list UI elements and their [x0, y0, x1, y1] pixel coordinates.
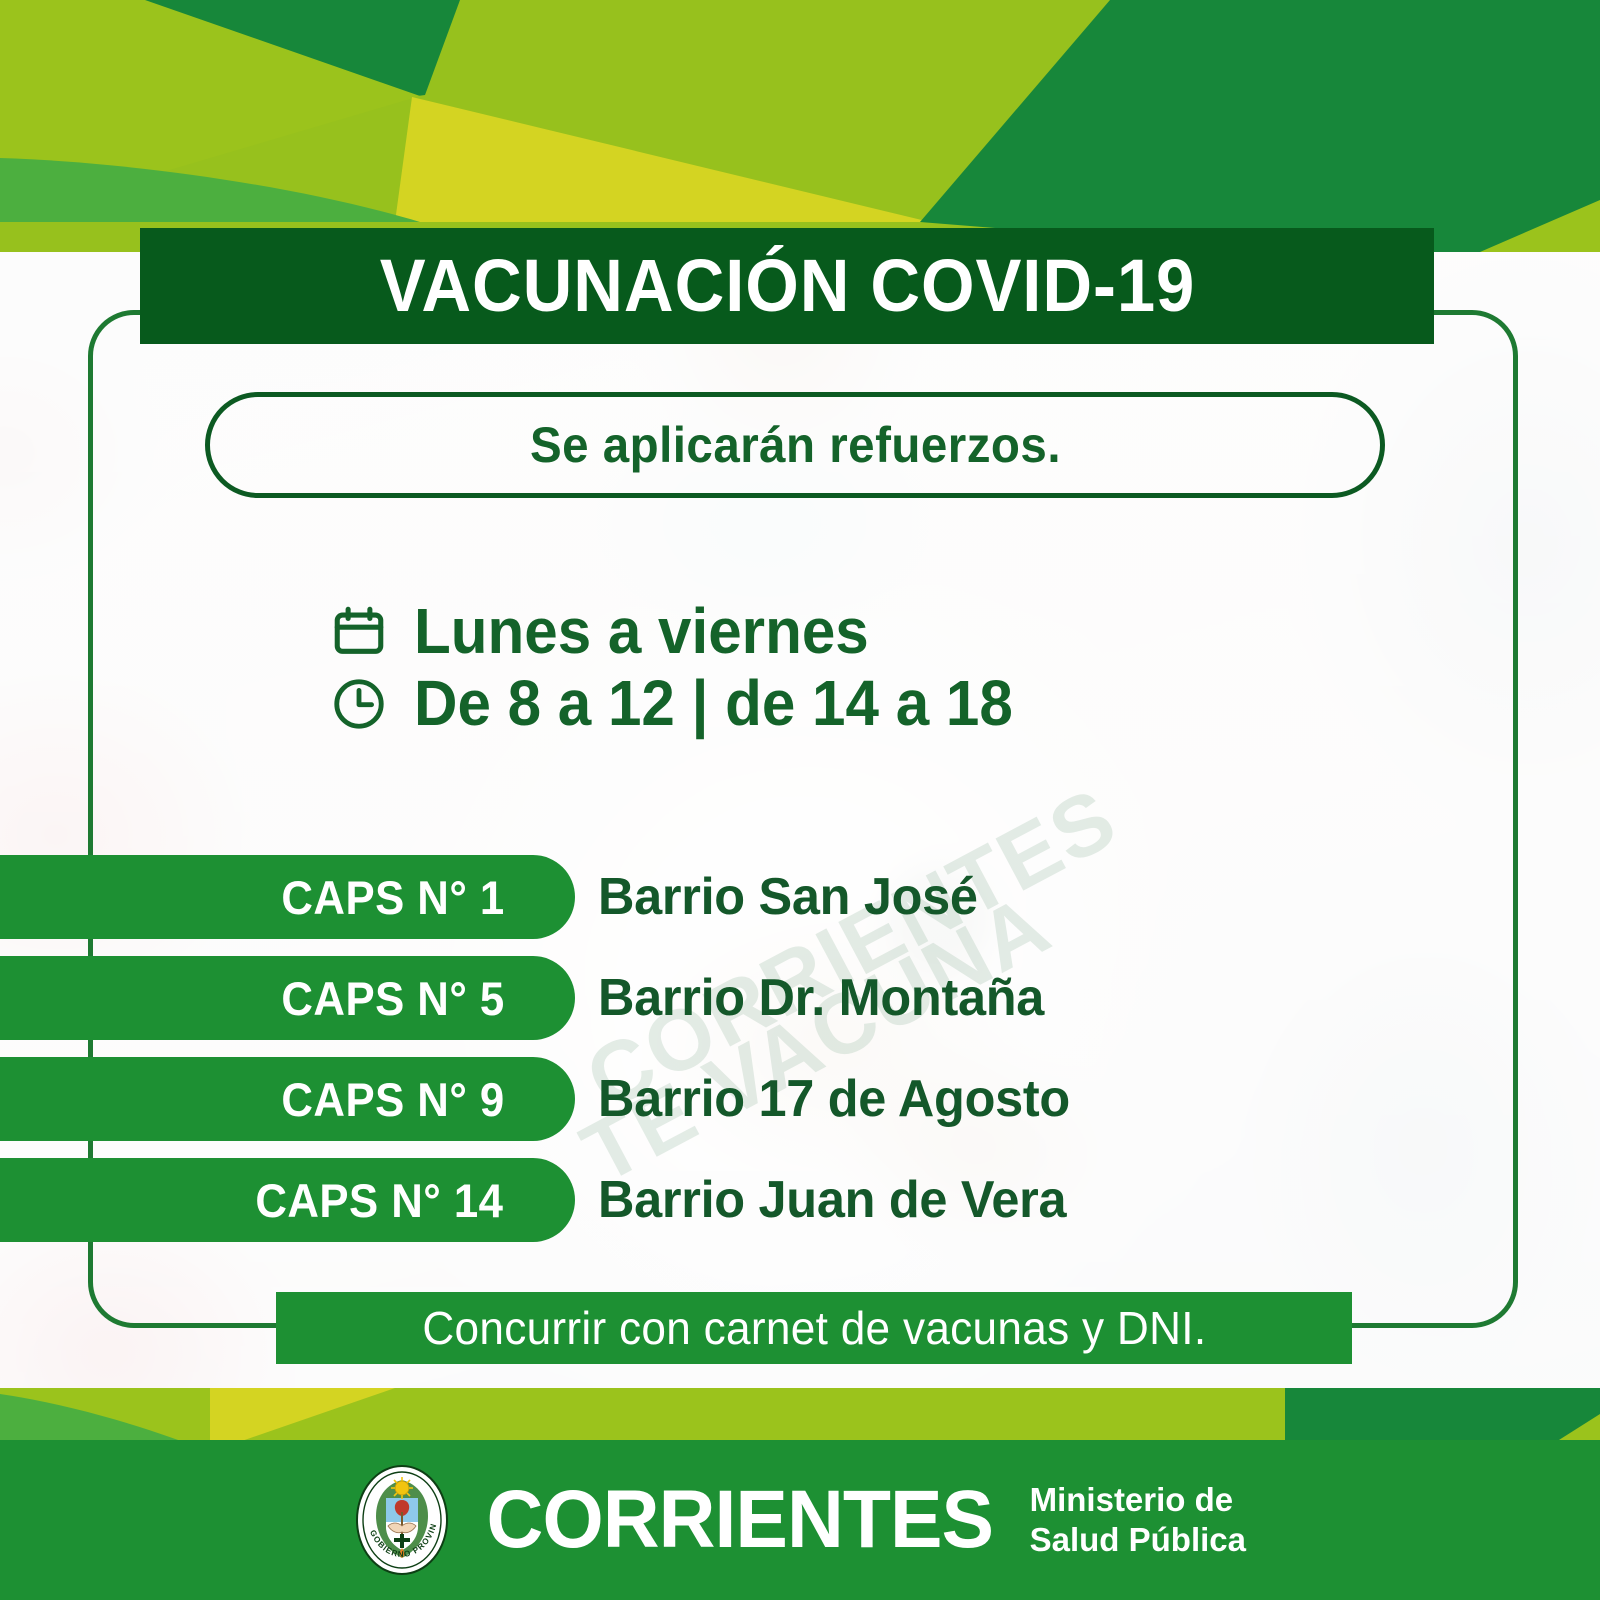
ministry-label: Ministerio de Salud Pública	[1030, 1480, 1246, 1561]
caps-row: CAPS N° 14 Barrio Juan de Vera	[0, 1158, 1600, 1253]
schedule-hours-text: De 8 a 12 | de 14 a 18	[414, 670, 1013, 738]
ministry-line1: Ministerio de	[1030, 1480, 1246, 1520]
note-text: Concurrir con carnet de vacunas y DNI.	[422, 1301, 1206, 1355]
schedule-block: Lunes a viernes De 8 a 12 | de 14 a 18	[330, 598, 1051, 742]
schedule-days-row: Lunes a viernes	[330, 598, 1051, 666]
corrientes-coat-of-arms-icon: GOBIERNO PROVINCIAL	[354, 1464, 450, 1576]
clock-icon	[330, 675, 388, 733]
subtitle-box: Se aplicarán refuerzos.	[205, 392, 1385, 498]
caps-neighborhood: Barrio San José	[598, 855, 989, 939]
top-decorative-band	[0, 0, 1600, 252]
schedule-days-text: Lunes a viernes	[414, 598, 869, 666]
brand-corrientes: CORRIENTES	[487, 1479, 994, 1561]
caps-label: CAPS N° 5	[281, 971, 504, 1026]
footer-bar: GOBIERNO PROVINCIAL CORRIENTES Ministeri…	[0, 1440, 1600, 1600]
title-banner: VACUNACIÓN COVID-19	[140, 228, 1434, 344]
poster: CORRIENTES TE VACUNA VACUNACIÓN COVID-19…	[0, 0, 1600, 1600]
caps-pill: CAPS N° 14	[0, 1158, 575, 1242]
caps-list: CAPS N° 1 Barrio San José CAPS N° 5 Barr…	[0, 855, 1600, 1259]
caps-row: CAPS N° 5 Barrio Dr. Montaña	[0, 956, 1600, 1051]
page-title: VACUNACIÓN COVID-19	[379, 249, 1195, 323]
caps-neighborhood: Barrio Dr. Montaña	[598, 956, 1058, 1040]
subtitle-text: Se aplicarán refuerzos.	[529, 416, 1060, 474]
ministry-line2: Salud Pública	[1030, 1520, 1246, 1560]
caps-label: CAPS N° 1	[281, 870, 504, 925]
caps-neighborhood: Barrio Juan de Vera	[598, 1158, 1081, 1242]
caps-label: CAPS N° 9	[281, 1072, 504, 1127]
note-bar: Concurrir con carnet de vacunas y DNI.	[276, 1292, 1352, 1364]
calendar-icon	[330, 603, 388, 661]
caps-row: CAPS N° 9 Barrio 17 de Agosto	[0, 1057, 1600, 1152]
caps-pill: CAPS N° 1	[0, 855, 575, 939]
caps-pill: CAPS N° 9	[0, 1057, 575, 1141]
caps-pill: CAPS N° 5	[0, 956, 575, 1040]
caps-neighborhood: Barrio 17 de Agosto	[598, 1057, 1084, 1141]
caps-label: CAPS N° 14	[256, 1173, 504, 1228]
caps-row: CAPS N° 1 Barrio San José	[0, 855, 1600, 950]
schedule-hours-row: De 8 a 12 | de 14 a 18	[330, 670, 1051, 738]
